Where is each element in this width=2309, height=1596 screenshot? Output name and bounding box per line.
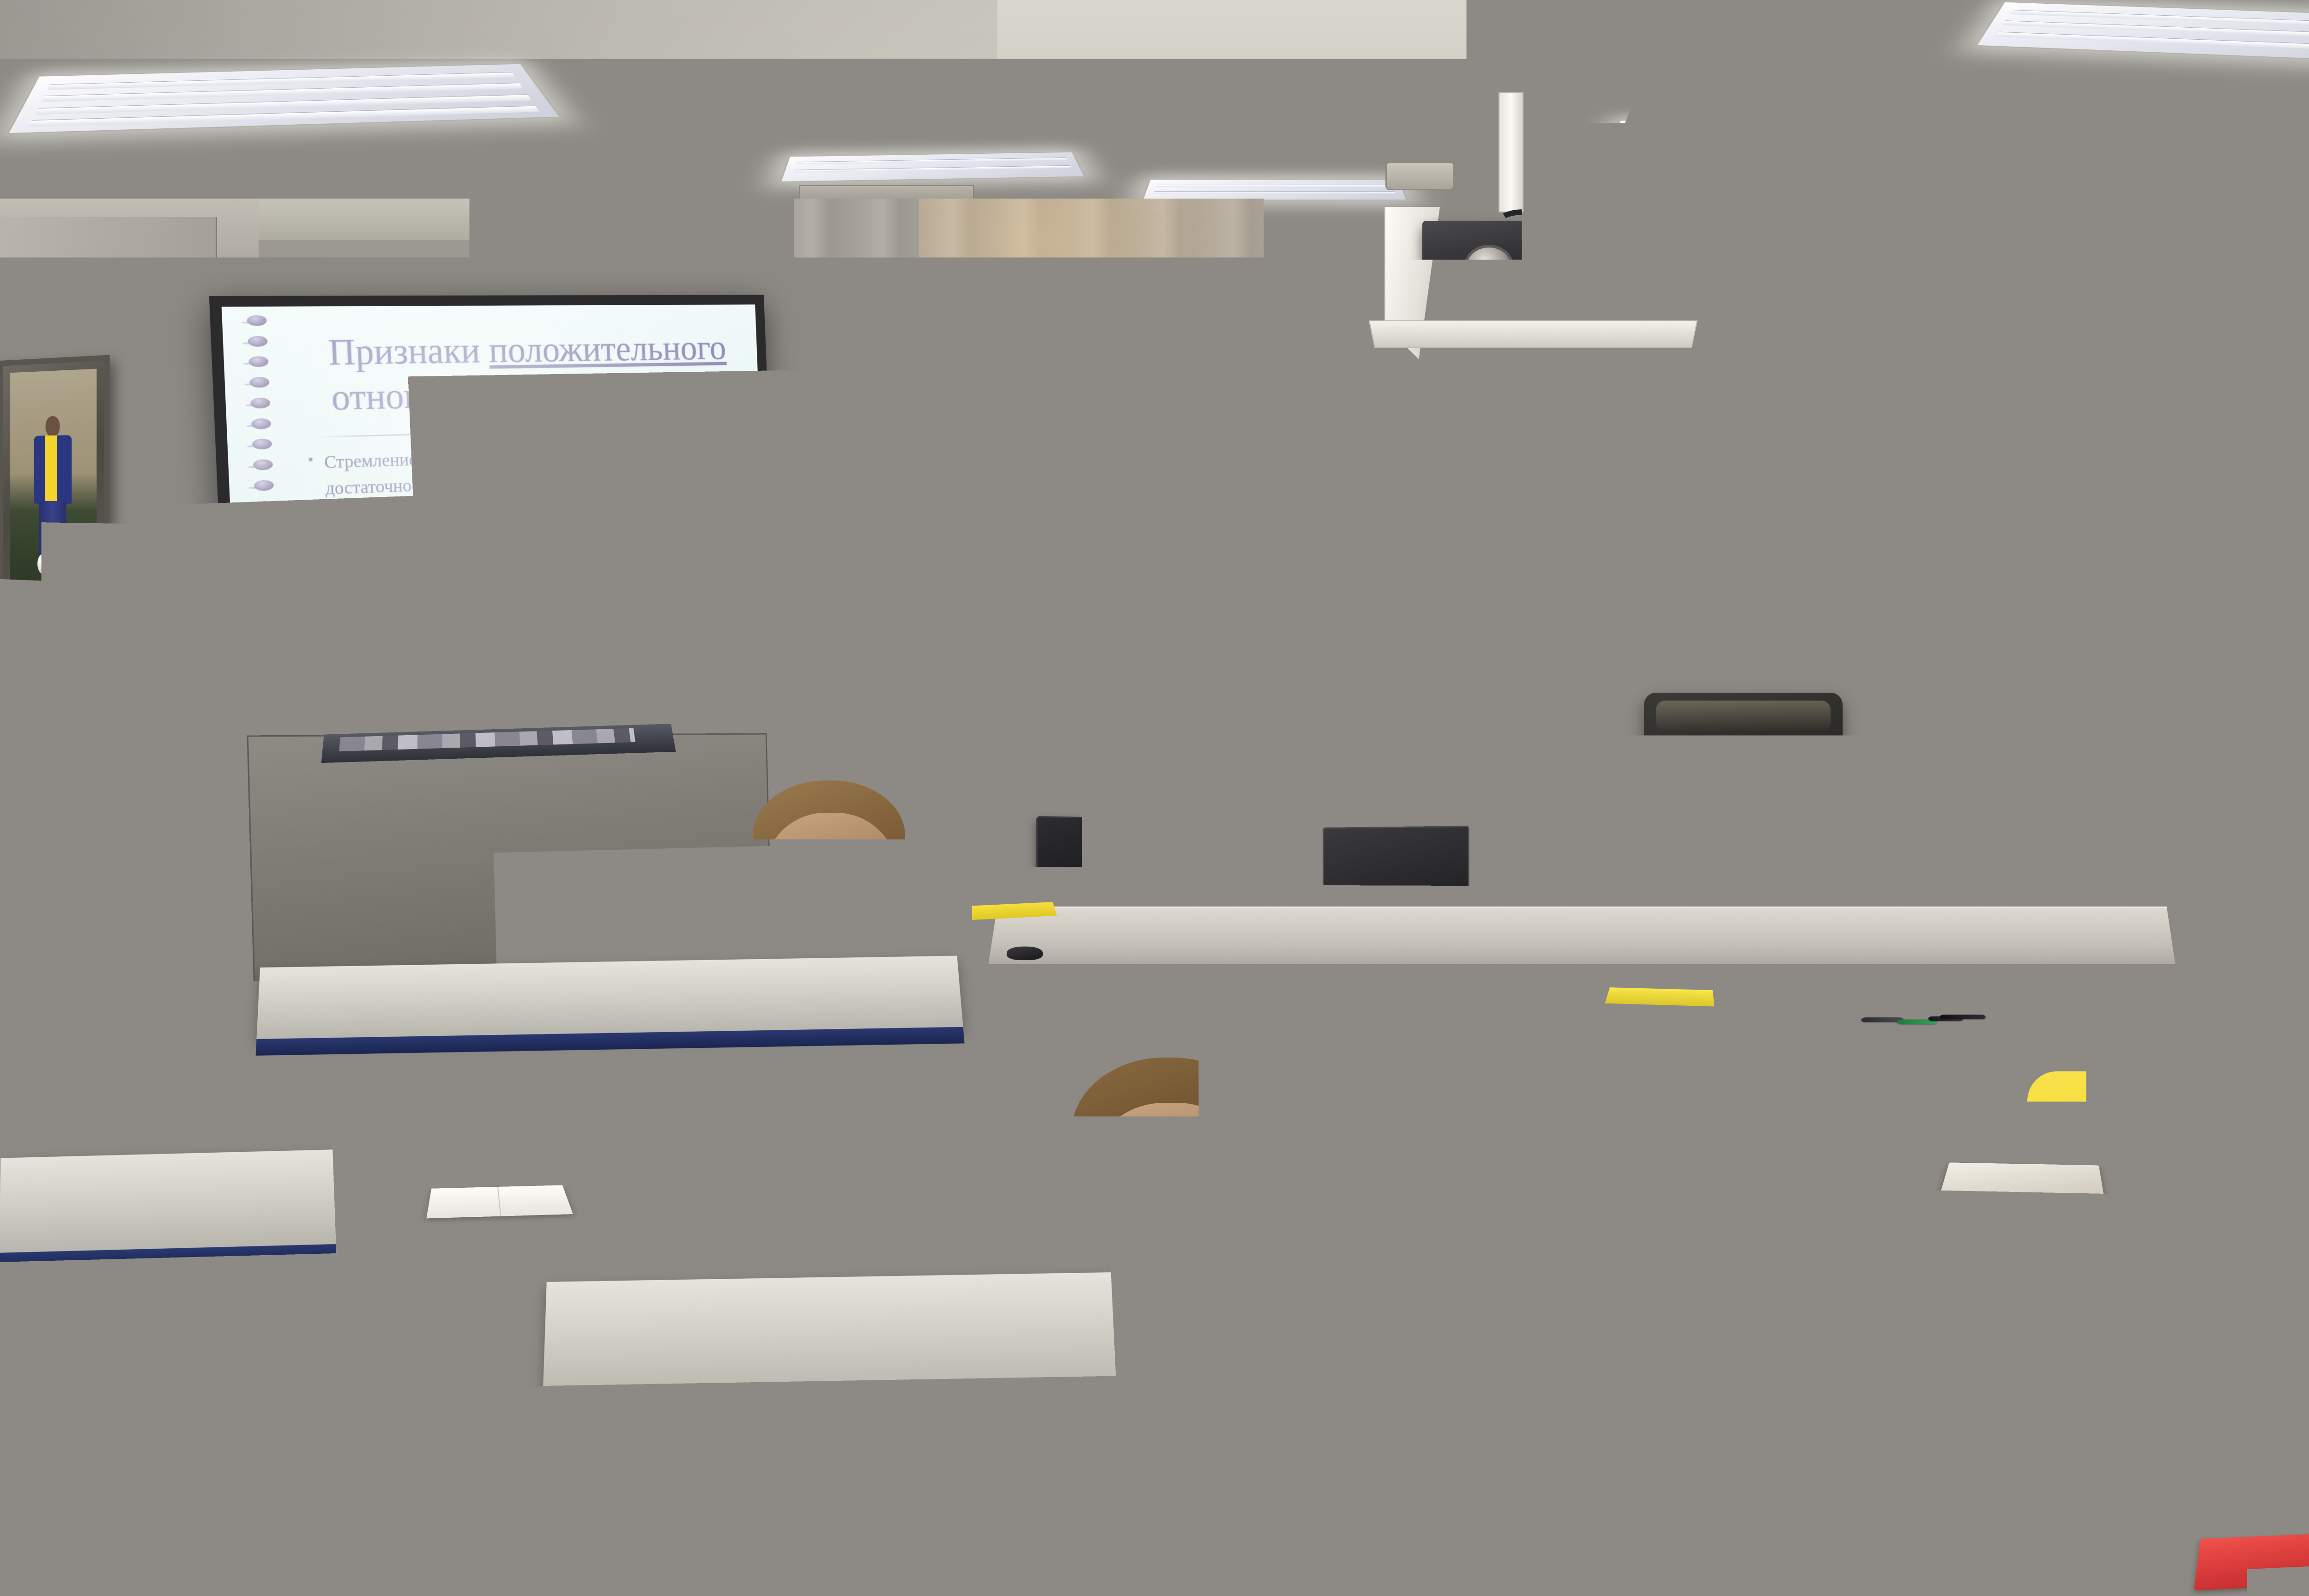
uefa-flag-label: UEFA (1739, 393, 1807, 419)
photo-coach-figure (30, 415, 75, 566)
pen-set[interactable] (1939, 1014, 1991, 1025)
goal-mouth (2245, 674, 2261, 713)
slide-title-part1: Признаки (327, 330, 490, 373)
projector-lens-icon (1464, 245, 1514, 289)
projection-screen: Признаки положительного отношения к нам … (209, 295, 781, 776)
blue-notebook[interactable] (587, 1311, 876, 1378)
projector-brand-label: EPSON (1607, 261, 1660, 277)
ceiling-light-panel (1141, 179, 1408, 200)
spiral-ring-icon (255, 521, 276, 532)
ceiling-light-strip (1614, 120, 1878, 134)
pen (1940, 1015, 1986, 1019)
ceiling-light-panel (779, 151, 1086, 182)
wall-pillar (2176, 199, 2188, 873)
tactics-whiteboard: TACTIC (2235, 459, 2309, 907)
spiral-ring-icon (265, 726, 284, 738)
spiral-ring-icon (249, 377, 270, 388)
spiral-ring-icon (264, 705, 284, 717)
spiral-ring-icon (258, 582, 278, 594)
spiral-ring-icon (257, 562, 277, 574)
executive-chair (1644, 693, 1843, 951)
trident-emblem-icon (1517, 507, 1586, 673)
slide-bullet-list: Стремление во время разговора подойти к … (302, 437, 756, 753)
photo-content (10, 369, 97, 599)
tactics-board-brand: TACTIC (2282, 484, 2309, 503)
spiral-ring-icon (265, 746, 285, 758)
brooch-icon (1221, 777, 1250, 802)
presenter-mouth (1259, 732, 1285, 739)
spiral-ring-icon (255, 500, 275, 512)
slide-title-underlined: положительного (488, 328, 727, 370)
slide-title-part2: отношения к нам человека (331, 370, 728, 418)
slide-bullet: Стремление во время разговора подойти к … (302, 437, 748, 530)
spiral-ring-icon (262, 665, 282, 677)
notebook[interactable] (1940, 1162, 2104, 1199)
projector-pole (1499, 92, 1523, 212)
glasses-icon (1240, 694, 1310, 709)
blue-notebook[interactable] (849, 1353, 1025, 1398)
presenter-head (1239, 659, 1325, 765)
spiral-ring-icon (256, 541, 277, 553)
spiral-ring-icon (263, 685, 283, 697)
spiral-ring-icon (247, 315, 267, 326)
spiral-binding (237, 315, 294, 756)
executive-chair (1953, 683, 2152, 942)
blue-notebook[interactable] (1548, 1422, 1779, 1481)
spiral-ring-icon (248, 357, 269, 368)
tactics-logo-icon (2253, 484, 2276, 510)
football-icon (37, 554, 47, 574)
ceiling-speaker (1385, 162, 1455, 190)
spiral-ring-icon (253, 459, 273, 470)
framed-wall-photo (0, 355, 110, 613)
spiral-ring-icon (251, 418, 272, 429)
open-document[interactable] (1590, 1126, 1801, 1173)
spiral-ring-icon (260, 623, 280, 635)
spiral-ring-icon (259, 603, 279, 615)
slide-title-divider (314, 425, 736, 438)
classroom-scene: EPSON Признаки положительного отношения … (0, 0, 2309, 1596)
attendee (115, 790, 319, 1085)
football-pitch-diagram (2244, 513, 2309, 894)
red-folder[interactable] (2194, 1531, 2309, 1590)
tactics-magnet[interactable] (2292, 682, 2309, 696)
spiral-ring-icon (248, 336, 268, 346)
spiral-ring-icon (252, 439, 272, 450)
attendee (937, 1058, 1399, 1596)
projector-tray (1369, 320, 1698, 348)
spiral-ring-icon (254, 480, 274, 491)
tactics-board-header: TACTIC (2245, 464, 2309, 520)
attendee-ukraine-jacket: UKRAINE (2027, 984, 2309, 1492)
open-document[interactable] (426, 1185, 573, 1218)
ceiling-projector: EPSON (1422, 221, 1672, 327)
tactics-magnet[interactable] (2263, 535, 2282, 550)
slide-title: Признаки положительного отношения к нам … (311, 326, 743, 420)
spiral-ring-icon (261, 644, 281, 656)
uefa-band: UEFA (1729, 379, 1818, 433)
spiral-ring-icon (250, 398, 271, 409)
attendee (0, 1247, 388, 1596)
slide-surface: Признаки положительного отношения к нам … (222, 304, 772, 762)
